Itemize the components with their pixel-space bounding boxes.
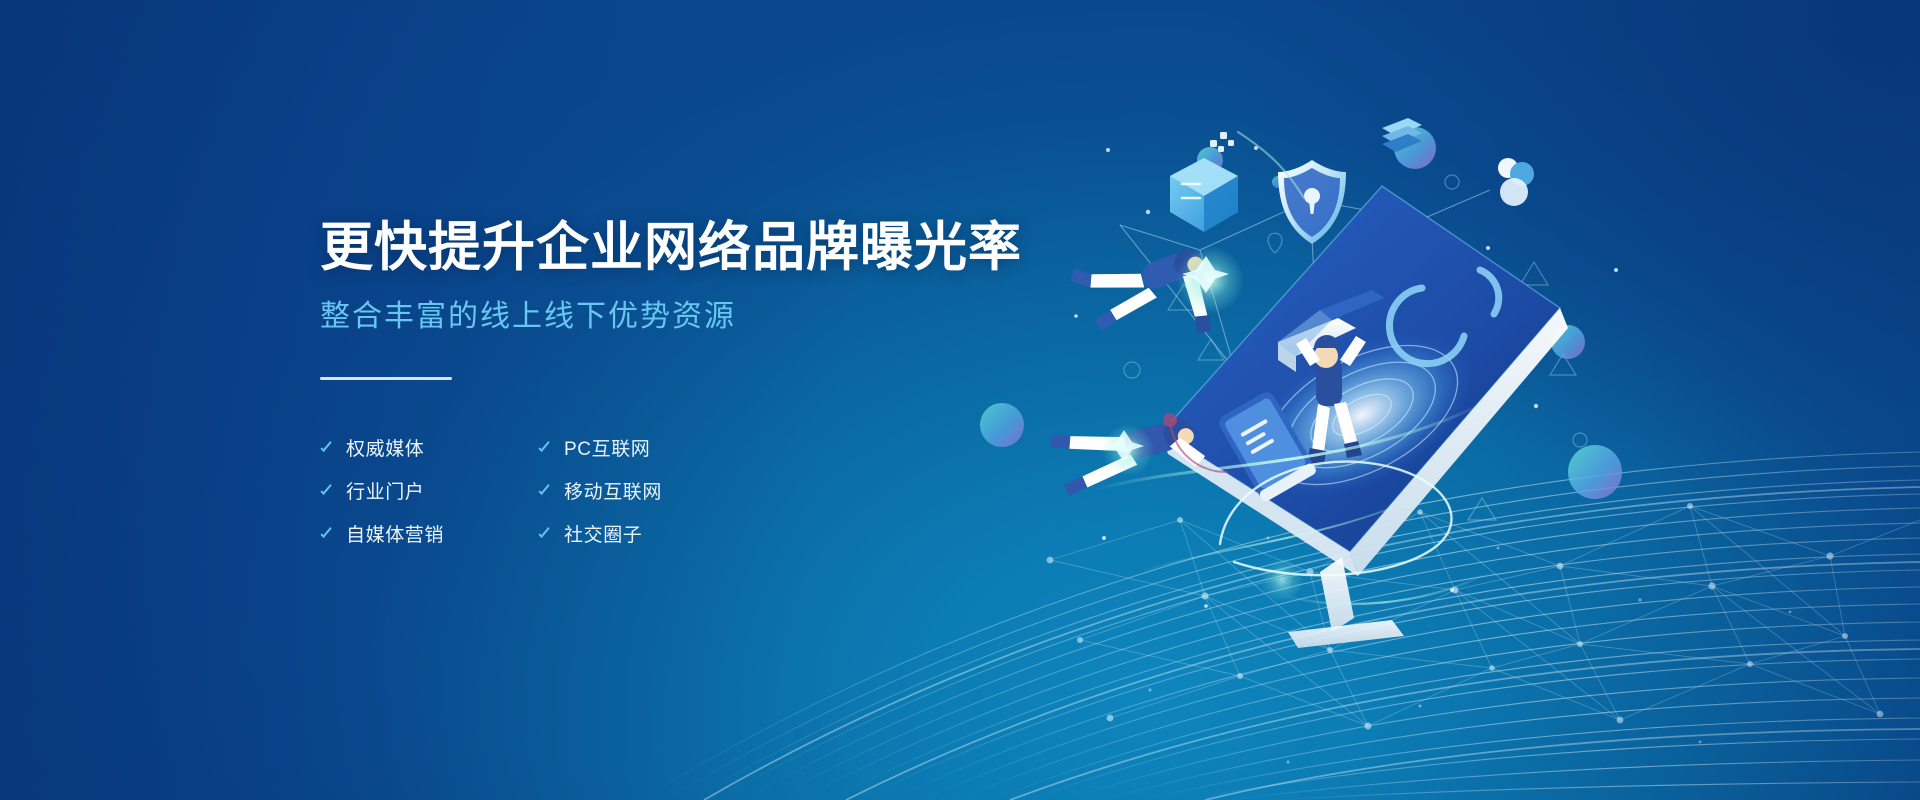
page-title: 更快提升企业网络品牌曝光率 [320, 218, 1020, 279]
page-subtitle: 整合丰富的线上线下优势资源 [320, 299, 1020, 335]
feature-item-mobile-internet: 移动互联网 [538, 477, 778, 504]
check-icon [320, 440, 335, 455]
hero-banner: 更快提升企业网络品牌曝光率 整合丰富的线上线下优势资源 权威媒体 PC互联网 行… [0, 0, 1920, 800]
data-cube-icon [1170, 132, 1238, 232]
feature-label: 移动互联网 [564, 477, 662, 504]
check-icon [320, 526, 335, 541]
check-icon [538, 440, 553, 455]
accent-dot [1163, 413, 1177, 427]
feature-label: 行业门户 [346, 477, 424, 504]
check-icon [320, 483, 335, 498]
feature-item-self-media-marketing: 自媒体营销 [320, 520, 538, 547]
feature-label: 社交圈子 [564, 520, 642, 547]
tech-network-illustration [1020, 120, 1660, 640]
feature-label: 权威媒体 [346, 434, 424, 461]
shield-lock-icon [1278, 160, 1346, 244]
check-icon [538, 483, 553, 498]
check-icon [538, 526, 553, 541]
feature-label: PC互联网 [564, 434, 650, 461]
users-icon [1498, 158, 1534, 206]
feature-item-pc-internet: PC互联网 [538, 434, 778, 461]
title-divider [320, 377, 452, 380]
feature-list: 权威媒体 PC互联网 行业门户 移动互联网 自媒体营销 社交圈子 [320, 426, 1020, 555]
feature-item-social-circle: 社交圈子 [538, 520, 778, 547]
feature-item-industry-portal: 行业门户 [320, 477, 538, 504]
feature-label: 自媒体营销 [346, 520, 444, 547]
feature-item-authoritative-media: 权威媒体 [320, 434, 538, 461]
hero-copy-block: 更快提升企业网络品牌曝光率 整合丰富的线上线下优势资源 权威媒体 PC互联网 行… [320, 218, 1020, 555]
